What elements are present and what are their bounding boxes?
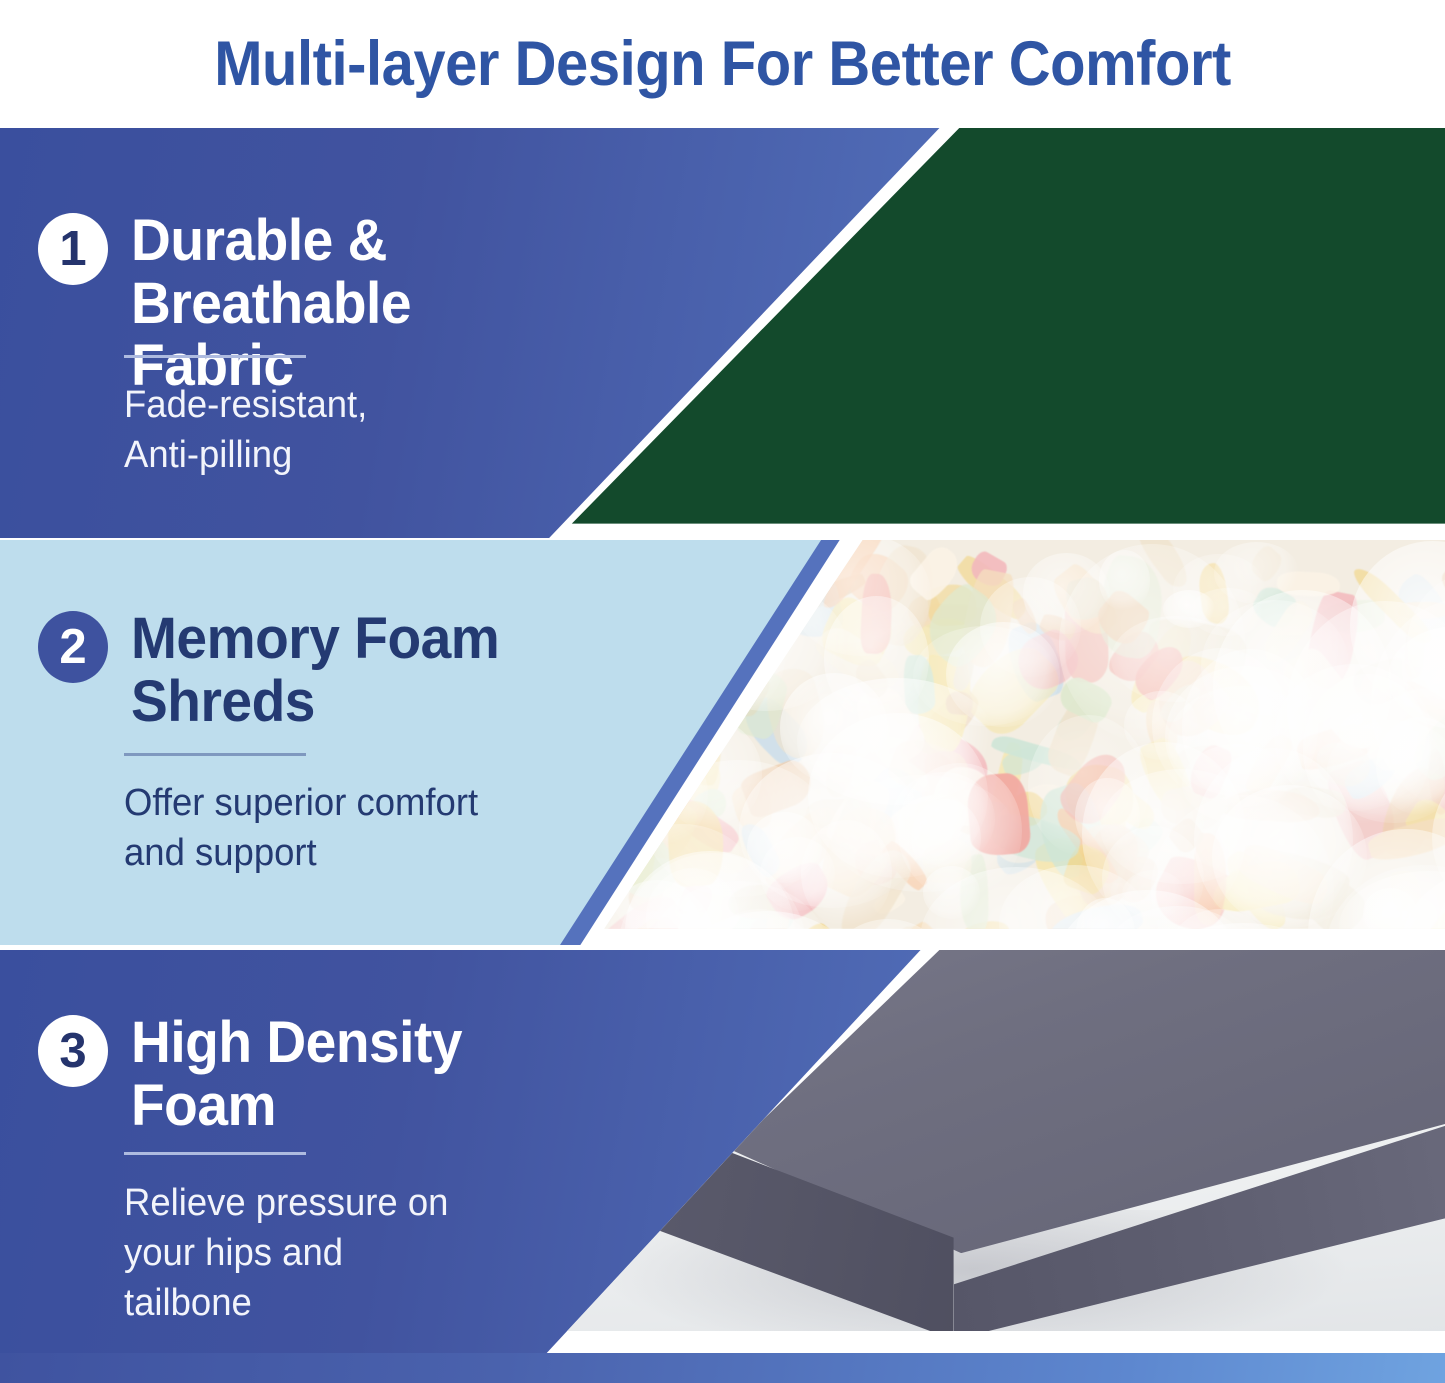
section-2-subtext: Offer superior comfort and support (124, 778, 478, 878)
step-number-badge: 1 (38, 213, 108, 285)
section-3-content: 3 High Density Foam Relieve pressure on … (0, 950, 560, 1383)
fiberfill-fluff (1201, 600, 1350, 731)
infographic-root: Multi-layer Design For Better Comfort 1 … (0, 0, 1445, 1383)
fiberfill-fluff (898, 763, 1023, 899)
section-2-divider-rule (124, 753, 306, 756)
feature-section-3: 3 High Density Foam Relieve pressure on … (0, 950, 1445, 1383)
section-1-content: 1 Durable & Breathable Fabric Fade-resis… (0, 128, 560, 538)
section-1-subtext: Fade-resistant, Anti-pilling (124, 380, 367, 480)
step-number-badge: 3 (38, 1015, 108, 1087)
page-title: Multi-layer Design For Better Comfort (214, 33, 1231, 96)
bottom-accent-strip (0, 1353, 1445, 1383)
section-3-divider-rule (124, 1152, 306, 1155)
section-3-badge-row: 3 High Density Foam (38, 1012, 480, 1137)
feature-section-1: 1 Durable & Breathable Fabric Fade-resis… (0, 128, 1445, 538)
fiberfill-fluff (747, 812, 821, 883)
title-bar: Multi-layer Design For Better Comfort (0, 0, 1445, 128)
feature-section-2: 2 Memory Foam Shreds Offer superior comf… (0, 540, 1445, 945)
section-2-badge-row: 2 Memory Foam Shreds (38, 608, 519, 733)
fiberfill-fluff (946, 622, 1060, 727)
section-1-badge-row: 1 Durable & Breathable Fabric (38, 210, 560, 398)
section-3-heading: High Density Foam (131, 1012, 462, 1137)
section-1-divider-rule (124, 355, 306, 358)
section-2-heading: Memory Foam Shreds (131, 608, 499, 733)
section-2-content: 2 Memory Foam Shreds Offer superior comf… (0, 540, 560, 945)
step-number-badge: 2 (38, 611, 108, 683)
section-1-heading: Durable & Breathable Fabric (131, 210, 539, 398)
section-3-subtext: Relieve pressure on your hips and tailbo… (124, 1178, 448, 1328)
fiberfill-fluff (1212, 785, 1367, 928)
